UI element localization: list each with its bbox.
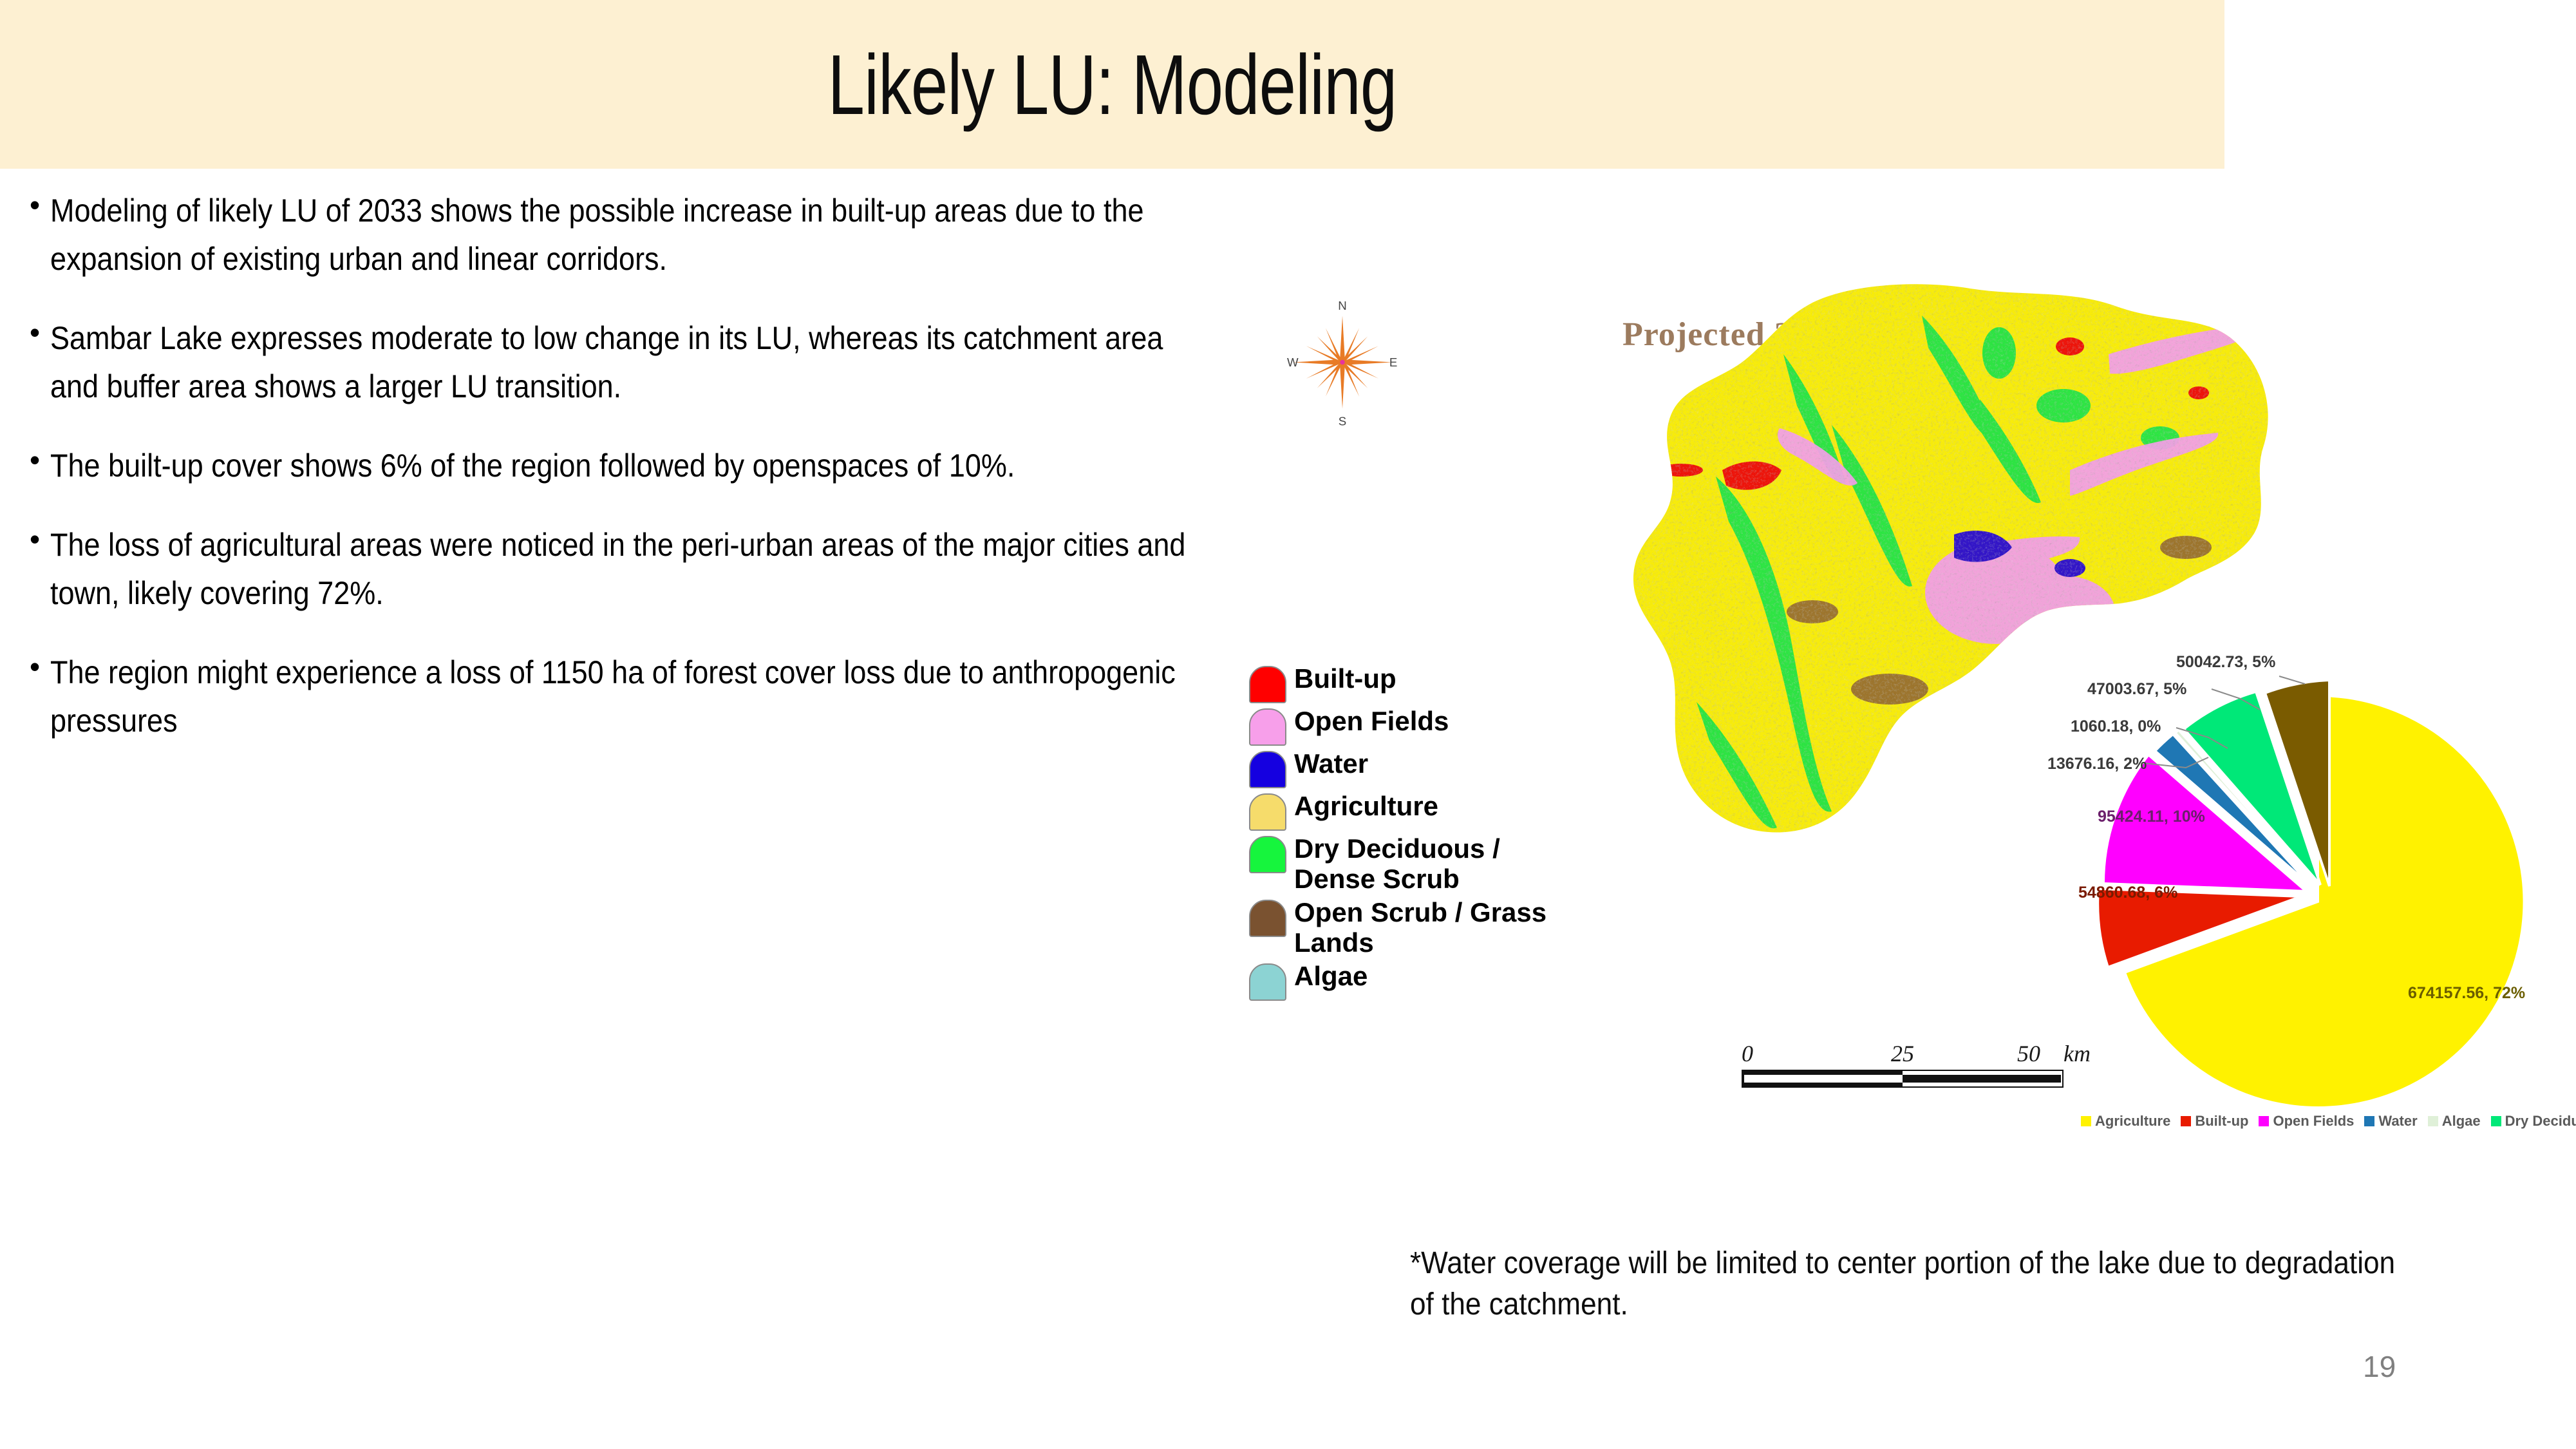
svg-text:W: W — [1287, 355, 1299, 369]
bullet-item: • The built-up cover shows 6% of the reg… — [19, 442, 1346, 490]
legend-item: Open Scrub / Grass Lands — [1249, 897, 1571, 958]
pie-canvas: 50042.73, 5% 47003.67, 5% 1060.18, 0% 13… — [2047, 650, 2576, 1121]
legend-swatch-built-up — [1249, 666, 1286, 703]
svg-text:N: N — [1338, 299, 1347, 312]
page-title: Likely LU: Modeling — [245, 0, 1980, 169]
legend-label: Open Fields — [1294, 706, 1449, 736]
bullet-text: Sambar Lake expresses moderate to low ch… — [50, 314, 1216, 411]
pie-legend-label: Algae — [2442, 1113, 2481, 1130]
map-scale-bar: 0 25 50 km — [1742, 1040, 2064, 1088]
landuse-pie-chart: 50042.73, 5% 47003.67, 5% 1060.18, 0% 13… — [2047, 650, 2576, 1166]
pie-label-open-fields: 95424.11, 10% — [2098, 808, 2205, 826]
pie-legend: Agriculture Built-up Open Fields Water A… — [2081, 1113, 2576, 1130]
legend-item: Built-up — [1249, 663, 1571, 703]
pie-legend-swatch-dry-deciduous — [2491, 1116, 2501, 1126]
legend-item: Water — [1249, 748, 1571, 788]
bullet-item: • Modeling of likely LU of 2033 shows th… — [19, 187, 1346, 283]
scale-bar-graphic — [1742, 1070, 2064, 1088]
pie-legend-item: Algae — [2428, 1113, 2481, 1130]
legend-label: Water — [1294, 748, 1368, 779]
footnote-text: *Water coverage will be limited to cente… — [1410, 1243, 2417, 1325]
pie-legend-swatch-water — [2364, 1116, 2374, 1126]
legend-swatch-water — [1249, 751, 1286, 788]
legend-label: Agriculture — [1294, 791, 1438, 821]
bullet-marker-icon: • — [19, 314, 50, 352]
compass-rose-icon: N S W E — [1281, 293, 1404, 431]
bullet-text: Modeling of likely LU of 2033 shows the … — [50, 187, 1216, 283]
legend-label: Built-up — [1294, 663, 1396, 694]
bullet-item: • The loss of agricultural areas were no… — [19, 521, 1346, 618]
bullet-text: The built-up cover shows 6% of the regio… — [50, 442, 1216, 490]
bullet-item: • The region might experience a loss of … — [19, 649, 1346, 745]
pie-legend-label: Built-up — [2195, 1113, 2248, 1130]
bullet-marker-icon: • — [19, 521, 50, 558]
svg-text:S: S — [1339, 415, 1346, 428]
bullet-marker-icon: • — [19, 649, 50, 686]
pie-legend-item: Water — [2364, 1113, 2417, 1130]
pie-legend-swatch-agriculture — [2081, 1116, 2091, 1126]
scale-tick-50: 50 — [2017, 1040, 2040, 1067]
pie-legend-item: Open Fields — [2259, 1113, 2354, 1130]
pie-legend-item: Agriculture — [2081, 1113, 2170, 1130]
svg-text:E: E — [1389, 355, 1397, 369]
legend-swatch-algae — [1249, 963, 1286, 1001]
pie-legend-label: Dry Deciduous — [2505, 1113, 2576, 1130]
pie-label-water: 13676.16, 2% — [2047, 755, 2147, 773]
legend-item: Open Fields — [1249, 706, 1571, 746]
pie-label-agriculture: 674157.56, 72% — [2408, 984, 2525, 1003]
page-number: 19 — [2363, 1349, 2396, 1384]
pie-label-scrub-grass: 50042.73, 5% — [2176, 653, 2275, 672]
scale-tick-25: 25 — [1891, 1040, 1914, 1067]
pie-legend-swatch-open-fields — [2259, 1116, 2269, 1126]
pie-label-dry-deciduous: 47003.67, 5% — [2087, 680, 2186, 699]
legend-swatch-agriculture — [1249, 793, 1286, 831]
pie-label-algae: 1060.18, 0% — [2071, 717, 2161, 736]
legend-label: Open Scrub / Grass Lands — [1294, 897, 1571, 958]
pie-legend-label: Water — [2378, 1113, 2417, 1130]
bullet-text: The loss of agricultural areas were noti… — [50, 521, 1216, 618]
bullet-marker-icon: • — [19, 187, 50, 224]
pie-legend-item: Built-up — [2181, 1113, 2248, 1130]
pie-legend-swatch-built-up — [2181, 1116, 2191, 1126]
scale-tick-0: 0 — [1742, 1040, 1753, 1067]
legend-item: Algae — [1249, 961, 1571, 1001]
legend-item: Dry Deciduous / Dense Scrub — [1249, 833, 1571, 895]
legend-label: Algae — [1294, 961, 1368, 991]
pie-legend-swatch-algae — [2428, 1116, 2438, 1126]
pie-legend-label: Open Fields — [2273, 1113, 2354, 1130]
pie-legend-label: Agriculture — [2095, 1113, 2170, 1130]
legend-swatch-open-fields — [1249, 708, 1286, 746]
legend-swatch-open-scrub — [1249, 900, 1286, 937]
pie-label-built-up: 54860.68, 6% — [2078, 884, 2177, 902]
pie-legend-item: Dry Deciduous — [2491, 1113, 2576, 1130]
legend-label: Dry Deciduous / Dense Scrub — [1294, 833, 1571, 895]
legend-swatch-dry-deciduous — [1249, 836, 1286, 873]
map-legend: Built-up Open Fields Water Agriculture D… — [1249, 663, 1571, 1003]
bullet-item: • Sambar Lake expresses moderate to low … — [19, 314, 1346, 411]
bullet-marker-icon: • — [19, 442, 50, 479]
bullet-text: The region might experience a loss of 11… — [50, 649, 1216, 745]
legend-item: Agriculture — [1249, 791, 1571, 831]
bullet-list: • Modeling of likely LU of 2033 shows th… — [19, 187, 1346, 776]
